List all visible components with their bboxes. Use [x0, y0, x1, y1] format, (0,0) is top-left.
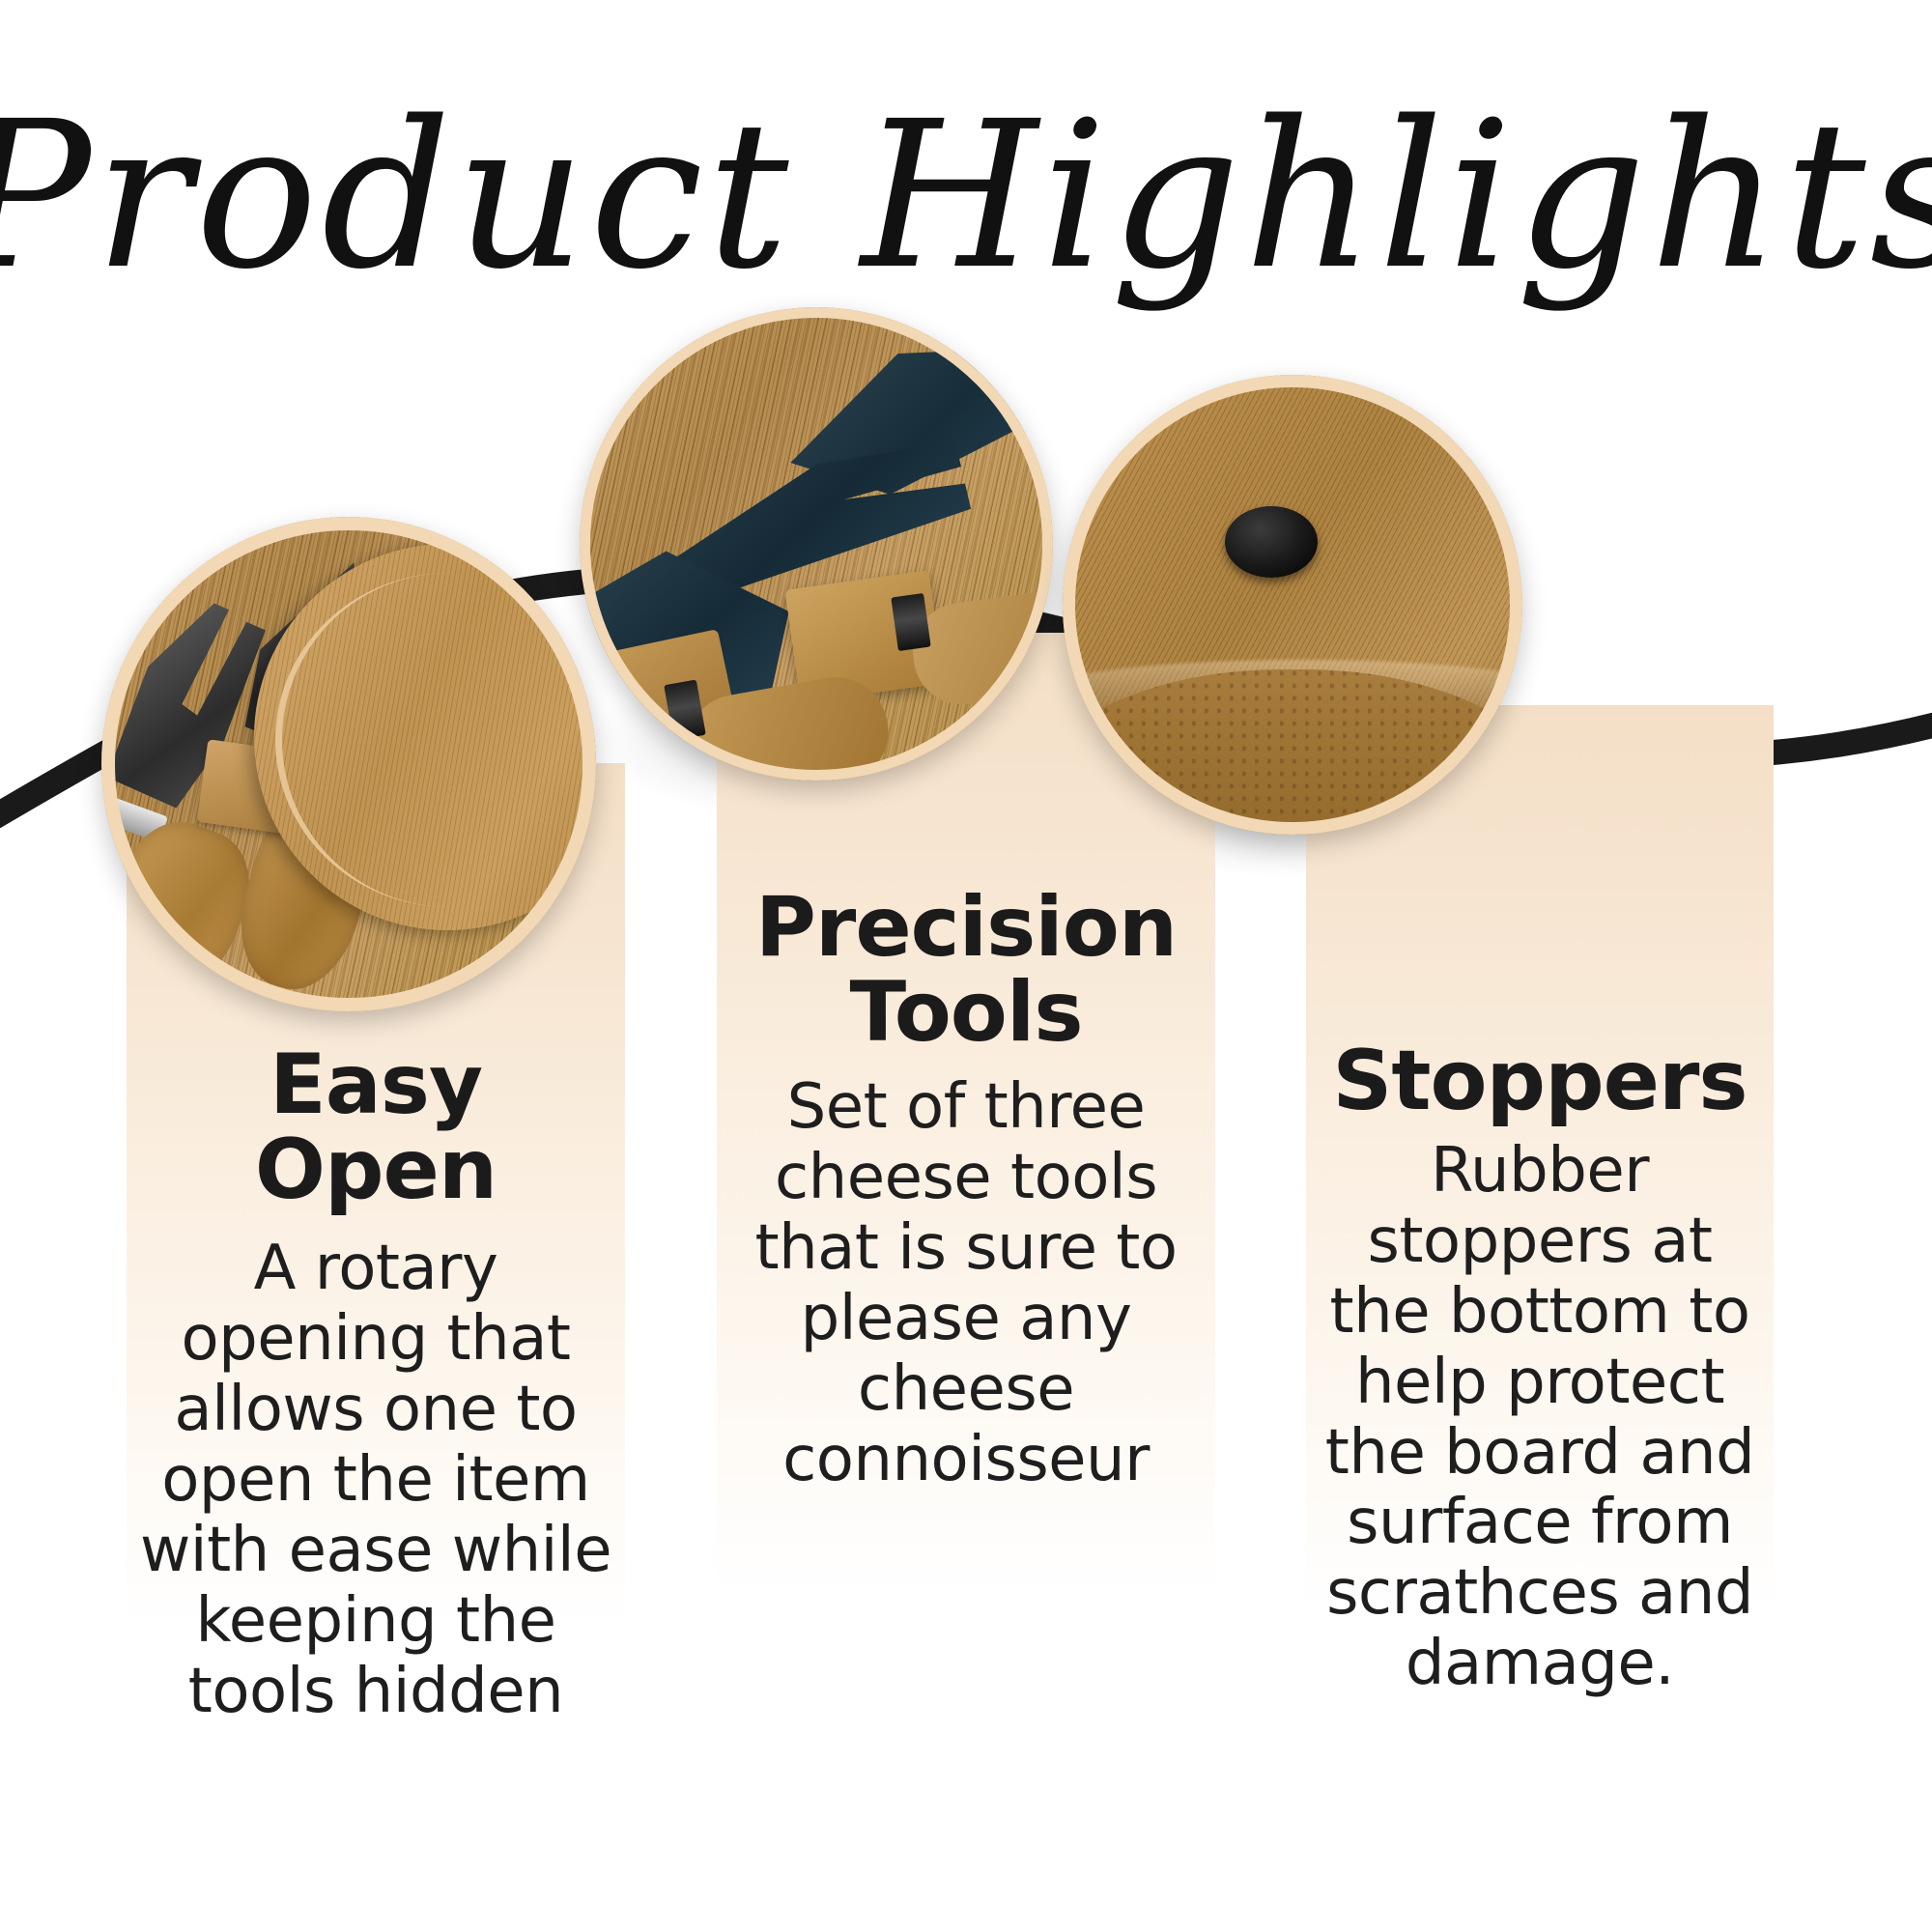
highlight-image-stoppers: [1063, 375, 1522, 835]
highlight-body-2: Set of three cheese tools that is sure t…: [726, 1072, 1206, 1495]
highlight-heading-1-line2: Open: [255, 1122, 497, 1218]
product-photo-2: [580, 307, 1053, 781]
rubber-stopper-icon: [1225, 506, 1318, 578]
lid-groove-icon: [275, 573, 565, 907]
highlight-heading-3: Stoppers: [1332, 1039, 1747, 1124]
highlight-heading-1-line1: Easy: [270, 1037, 482, 1133]
highlight-heading-3-line1: Stoppers: [1332, 1033, 1747, 1129]
product-photo-1: [101, 517, 596, 1011]
highlight-heading-2-line1: Precision: [755, 879, 1177, 976]
page-header: Product Highlights: [0, 58, 1932, 348]
highlight-image-precision-tools: [580, 307, 1053, 781]
highlight-panel-stoppers: Stoppers Rubber stoppers at the bottom t…: [1306, 705, 1774, 1932]
highlight-heading-1: Easy Open: [255, 1043, 497, 1212]
highlight-image-easy-open: [101, 517, 596, 1011]
highlight-heading-2: Precision Tools: [755, 886, 1177, 1055]
highlight-body-1: A rotary opening that allows one to open…: [136, 1234, 615, 1727]
page-title-svg: Product Highlights: [0, 58, 1932, 348]
product-photo-3: [1063, 375, 1522, 835]
page-title: Product Highlights: [0, 77, 1932, 314]
highlight-body-3: Rubber stoppers at the bottom to help pr…: [1316, 1136, 1764, 1700]
highlight-heading-2-line2: Tools: [849, 964, 1082, 1061]
